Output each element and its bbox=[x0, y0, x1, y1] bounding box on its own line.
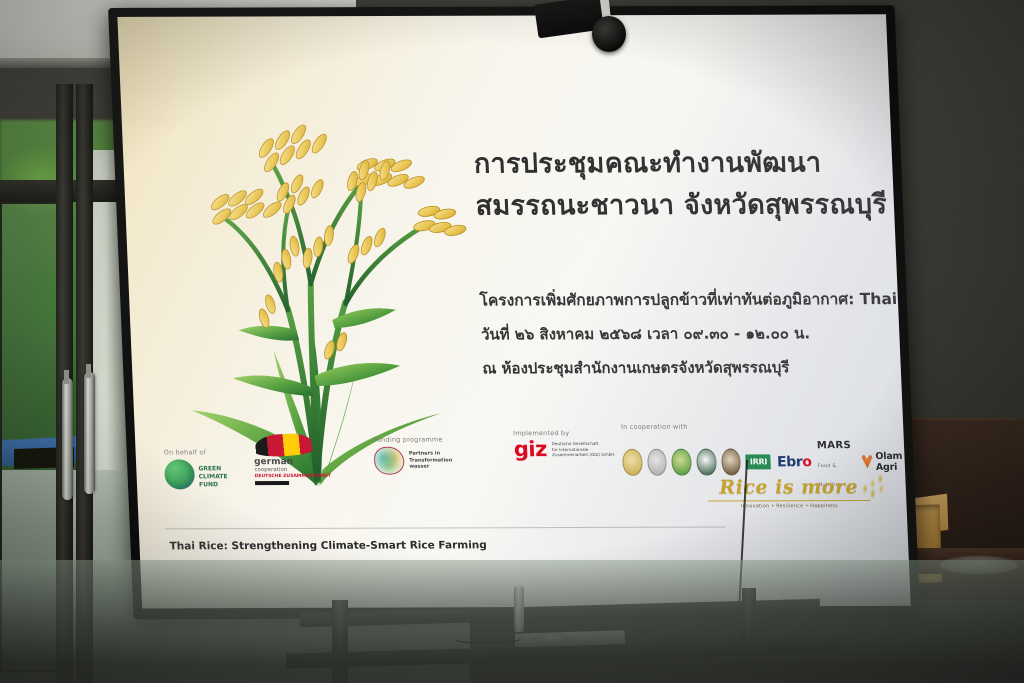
german-flag-icon bbox=[253, 432, 317, 457]
door-handle-left[interactable] bbox=[62, 378, 73, 500]
caption-in-cooperation-with: In cooperation with bbox=[621, 422, 911, 431]
television[interactable]: การประชุมคณะทำงานพัฒนา สมรรถนะชาวนา จังห… bbox=[108, 5, 920, 619]
door-handle-post-a bbox=[64, 370, 69, 384]
slide-title: การประชุมคณะทำงานพัฒนา สมรรถนะชาวนา จังห… bbox=[473, 142, 897, 227]
thai-agency-seal-2-icon bbox=[647, 449, 668, 476]
logo-group-funding-programme: Funding programme Partners inTransformat… bbox=[373, 435, 453, 474]
mars-logo-name: MARS bbox=[817, 440, 852, 451]
presentation-slide: การประชุมคณะทำงานพัฒนา สมรรถนะชาวนา จังห… bbox=[117, 14, 910, 608]
green-climate-fund-icon bbox=[164, 459, 195, 489]
partners-in-transformation-label: Partners inTransformationwasser bbox=[409, 451, 453, 471]
giz-subtext: Deutsche Gesellschaftfür InternationaleZ… bbox=[551, 441, 614, 458]
tv-screen[interactable]: การประชุมคณะทำงานพัฒนา สมรรถนะชาวนา จังห… bbox=[117, 14, 910, 608]
subtitle-project: โครงการเพิ่มศักยภาพการปลูกข้าวที่เท่าทัน… bbox=[479, 282, 911, 318]
wheat-icon bbox=[856, 468, 893, 502]
logo-group-implemented-by: Implemented by giz Deutsche Gesellschaft… bbox=[513, 429, 615, 459]
title-line-1: การประชุมคณะทำงานพัฒนา bbox=[473, 142, 895, 185]
thai-agency-seal-4-icon bbox=[696, 449, 717, 476]
german-cooperation-line1: german bbox=[254, 458, 331, 467]
green-climate-fund-label: GREENCLIMATEFUND bbox=[198, 465, 228, 489]
partners-in-transformation-icon bbox=[374, 447, 405, 475]
door-handle-right[interactable] bbox=[84, 372, 95, 494]
footer-note: Thai Rice: Strengthening Climate-Smart R… bbox=[169, 539, 487, 552]
logo-german-cooperation: german cooperation DEUTSCHE ZUSAMMENARBE… bbox=[253, 434, 331, 485]
webcam-icon[interactable] bbox=[592, 16, 626, 52]
rice-is-more-rule bbox=[708, 500, 870, 502]
irri-logo: IRRI bbox=[746, 454, 772, 469]
tv-bezel: การประชุมคณะทำงานพัฒนา สมรรถนะชาวนา จังห… bbox=[108, 5, 920, 619]
rice-is-more-mark: Rice is more Innovation • Resilience • H… bbox=[693, 476, 885, 511]
german-cooperation-bar bbox=[255, 481, 289, 485]
thai-agency-seal-5-icon bbox=[721, 448, 742, 475]
caption-on-behalf-of: On behalf of bbox=[163, 448, 226, 456]
door-handle-post-b bbox=[86, 364, 91, 378]
title-line-2: สมรรถนะชาวนา จังหวัดสุพรรณบุรี bbox=[475, 184, 897, 227]
subtitle-venue: ณ ห้องประชุมสำนักงานเกษตรจังหวัดสุพรรณบุ… bbox=[482, 350, 911, 385]
floor-foreground bbox=[0, 560, 1024, 683]
slide-subtitle: โครงการเพิ่มศักยภาพการปลูกข้าวที่เท่าทัน… bbox=[479, 282, 911, 386]
thai-agency-seal-1-icon bbox=[622, 449, 643, 476]
screenshot-scene: การประชุมคณะทำงานพัฒนา สมรรถนะชาวนา จังห… bbox=[0, 0, 1024, 683]
caption-implemented-by: Implemented by bbox=[513, 429, 614, 437]
olam-agri-icon bbox=[861, 455, 872, 469]
german-cooperation-line3: DEUTSCHE ZUSAMMENARBEIT bbox=[255, 474, 331, 479]
subtitle-datetime: วันที่ ๒๖ สิงหาคม ๒๕๖๘ เวลา ๐๙.๓๐ - ๑๒.๐… bbox=[480, 317, 910, 352]
olam-agri-label: Olam Agri bbox=[875, 450, 911, 472]
logo-group-on-behalf-of: On behalf of GREENCLIMATEFUND bbox=[163, 448, 228, 489]
rice-is-more-tagline: Innovation • Resilience • Happiness bbox=[694, 503, 884, 511]
thai-agency-seal-3-icon bbox=[671, 449, 692, 476]
giz-logo: giz bbox=[513, 440, 547, 459]
caption-funding-programme: Funding programme bbox=[373, 435, 451, 443]
ebro-logo: Ebro bbox=[777, 454, 812, 470]
